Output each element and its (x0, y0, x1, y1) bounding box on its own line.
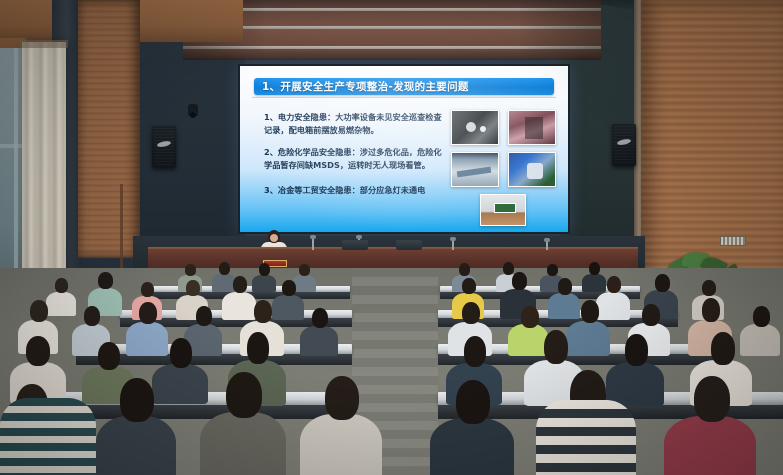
photo-workshop-hazard (508, 110, 556, 145)
curtain-rail (20, 40, 68, 48)
microphone-4 (546, 241, 548, 250)
audience-person (300, 308, 338, 354)
slide-bullet-1: 1、电力安全隐患：大功率设备未见安全巡查检查记录，配电箱前摆放易燃杂物。 (264, 111, 449, 137)
slide-title: 1、开展安全生产专项整治-发现的主要问题 (254, 79, 469, 94)
title-underline (252, 97, 556, 98)
audience-person (200, 372, 286, 475)
presentation-slide: 1、开展安全生产专项整治-发现的主要问题 1、电力安全隐患：大功率设备未见安全巡… (240, 66, 568, 232)
audience-striped-shirt (0, 398, 96, 475)
slide-bullet-3: 3、冶金等工贸安全隐患：部分应急灯未通电 (264, 184, 449, 197)
conference-room-photo: 1、开展安全生产专项整治-发现的主要问题 1、电力安全隐患：大功率设备未见安全巡… (0, 0, 783, 475)
audience-person (664, 376, 756, 475)
projection-screen[interactable]: 1、开展安全生产专项整治-发现的主要问题 1、电力安全隐患：大功率设备未见安全巡… (238, 64, 570, 234)
microphone-1 (312, 238, 314, 250)
photo-chemical-handling (508, 152, 556, 187)
audience-person (430, 380, 514, 475)
head-table-chair-1 (342, 240, 368, 250)
slide-bullet-2: 2、危险化学品安全隐患：涉过多危化品，危险化学品暂存间缺MSDS，运转时无人现场… (264, 146, 449, 172)
wall-speaker-left (152, 126, 176, 168)
photo-storage-room (451, 152, 499, 187)
air-vent (720, 236, 746, 246)
wood-slat-ceiling (183, 0, 601, 60)
slide-title-bar: 1、开展安全生产专项整治-发现的主要问题 (254, 78, 554, 95)
wall-speaker-right (612, 124, 636, 166)
head-table-chair-2 (396, 240, 422, 250)
photo-electrical-panel (451, 110, 499, 145)
left-wood-column (78, 0, 140, 258)
audience-striped-shirt (536, 400, 636, 475)
curtain (22, 42, 66, 300)
audience-person (96, 378, 176, 475)
audience-person (300, 376, 382, 475)
microphone-3 (452, 240, 454, 250)
security-camera (188, 104, 198, 116)
photo-emergency-light (480, 194, 526, 226)
